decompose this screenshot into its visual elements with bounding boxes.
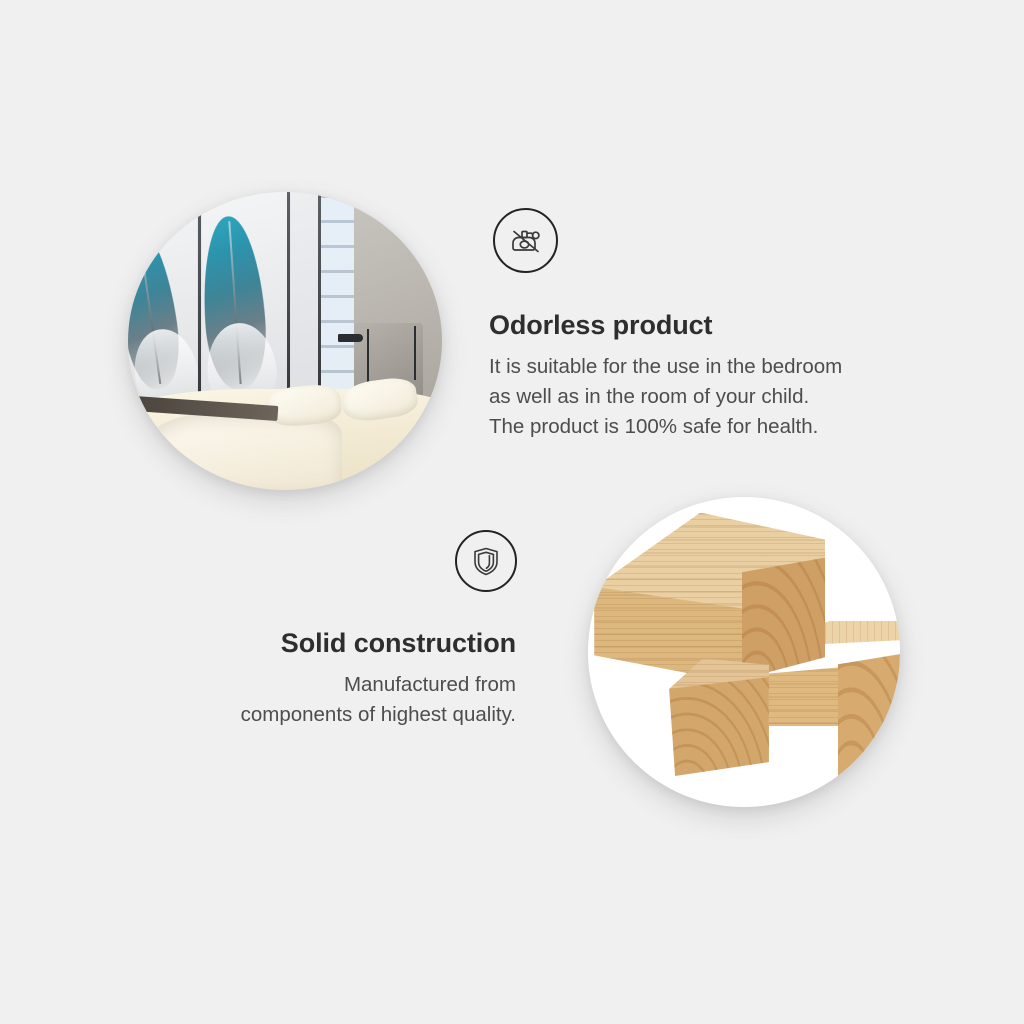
no-perfume-icon — [493, 208, 558, 273]
wood-beam-right-end — [838, 652, 900, 776]
wood-beam-front — [669, 658, 769, 776]
solid-construction-title: Solid construction — [176, 628, 516, 659]
solid-construction-feature-text: Solid construction Manufactured from com… — [176, 628, 516, 730]
duvet — [147, 413, 342, 490]
wall-lamp-arm — [414, 326, 416, 380]
wooden-beams-photo — [588, 497, 900, 807]
floor-lamp-shade — [338, 334, 363, 343]
bedroom-feather-artwork-photo — [128, 192, 442, 490]
solid-construction-description: Manufactured from components of highest … — [176, 670, 516, 730]
beam-end-grain-face — [838, 652, 900, 776]
odorless-feature-text: Odorless product It is suitable for the … — [489, 310, 842, 442]
beam-front-end-face — [669, 677, 769, 776]
infographic-stage: Odorless product It is suitable for the … — [0, 0, 1024, 1024]
odorless-title: Odorless product — [489, 310, 842, 341]
odorless-description: It is suitable for the use in the bedroo… — [489, 352, 842, 442]
shield-icon — [455, 530, 517, 592]
